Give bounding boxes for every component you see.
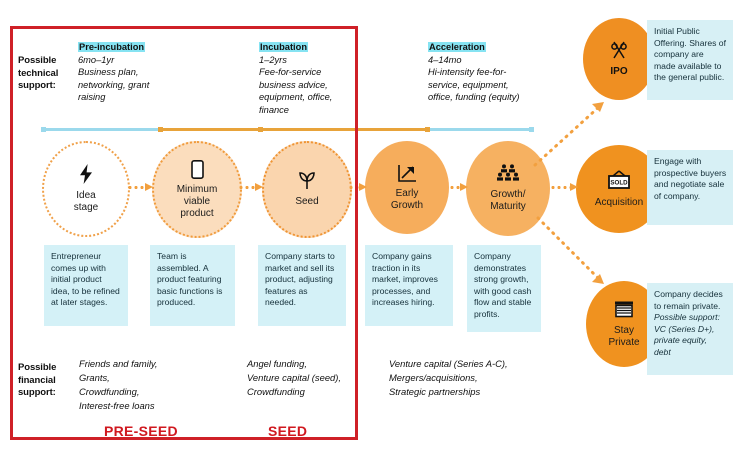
fin-line: Interest-free loans [79,399,229,413]
fin-line: Angel funding, [247,357,397,371]
fin-line: Mergers/acquisitions, [389,371,579,385]
fin-line: Crowdfunding [247,385,397,399]
arrow-head-stay-private [592,274,604,284]
seed-funding-sources: Angel funding, Venture capital (seed), C… [247,357,397,399]
stay-private-description: Company decides to remain private. Possi… [647,283,733,375]
idea-stage-description: Entrepreneur comes up with initial produ… [44,245,128,326]
growth-maturity-description: Company demonstrates strong growth, with… [467,245,541,332]
arrow-growth-maturity-to-ipo [535,106,600,165]
fin-line: Venture capital (seed), [247,371,397,385]
desc-line-emphasis: Possible support: [654,312,727,324]
desc-line-emphasis: private equity, [654,335,727,347]
desc-line: Company decides [654,289,727,301]
seed-tag: SEED [268,423,307,439]
fin-line: Friends and family, [79,357,229,371]
desc-line: to remain private. [654,301,727,313]
fin-line: Strategic partnerships [389,385,579,399]
seed-description: Company starts to market and sell its pr… [258,245,346,326]
ipo-description: Initial Public Offering. Shares of compa… [647,20,733,100]
early-growth-description: Company gains traction in its market, im… [365,245,453,326]
arrow-growth-maturity-to-stay-private [538,218,600,280]
mvp-description: Team is assembled. A product featuring b… [150,245,235,326]
pre-seed-funding-sources: Friends and family, Grants, Crowdfunding… [79,357,229,413]
pre-seed-tag: PRE-SEED [104,423,178,439]
desc-line-emphasis: debt [654,347,727,359]
arrow-head-ipo [592,102,604,112]
fin-line: Crowdfunding, [79,385,229,399]
fin-line: Grants, [79,371,229,385]
acquisition-description: Engage with prospective buyers and negot… [647,150,733,225]
fin-line: Venture capital (Series A-C), [389,357,579,371]
desc-line-emphasis: VC (Series D+), [654,324,727,336]
growth-funding-sources: Venture capital (Series A-C), Mergers/ac… [389,357,579,399]
diagram-canvas: Possible technical support: Possible fin… [0,0,740,452]
